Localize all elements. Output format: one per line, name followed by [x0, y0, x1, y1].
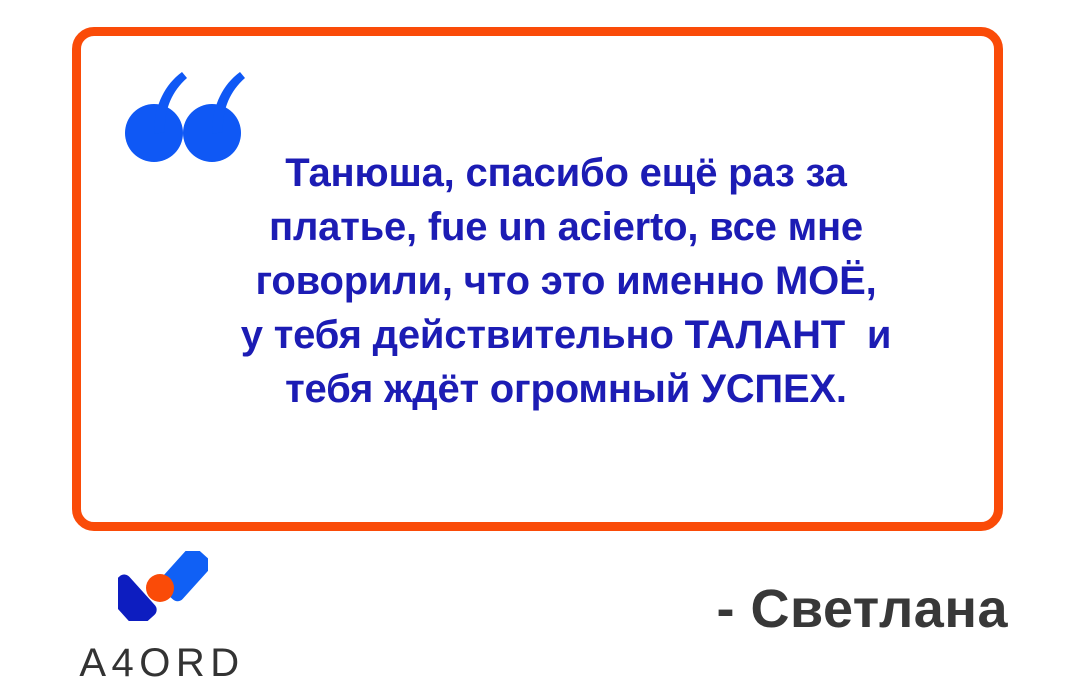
testimonial-graphic: Танюша, спасибо ещё раз за платье, fue u… [0, 0, 1080, 690]
quote-line: у тебя действительно ТАЛАНТ и [206, 308, 926, 362]
attribution-name: - Светлана [716, 578, 1008, 640]
quote-card: Танюша, спасибо ещё раз за платье, fue u… [72, 27, 1003, 531]
a4ord-checkmark-logo-icon [118, 551, 208, 621]
footer: A4ORD - Светлана [0, 545, 1080, 690]
brand-logo: A4ORD [62, 551, 272, 686]
brand-wordmark: A4ORD [62, 643, 262, 683]
quote-line: тебя ждёт огромный УСПЕХ. [206, 362, 926, 416]
quote-line: Танюша, спасибо ещё раз за [206, 146, 926, 200]
quote-line: платье, fue un acierto, все мне [206, 200, 926, 254]
quote-text: Танюша, спасибо ещё раз за платье, fue u… [206, 146, 926, 416]
quote-line: говорили, что это именно МОЁ, [206, 254, 926, 308]
